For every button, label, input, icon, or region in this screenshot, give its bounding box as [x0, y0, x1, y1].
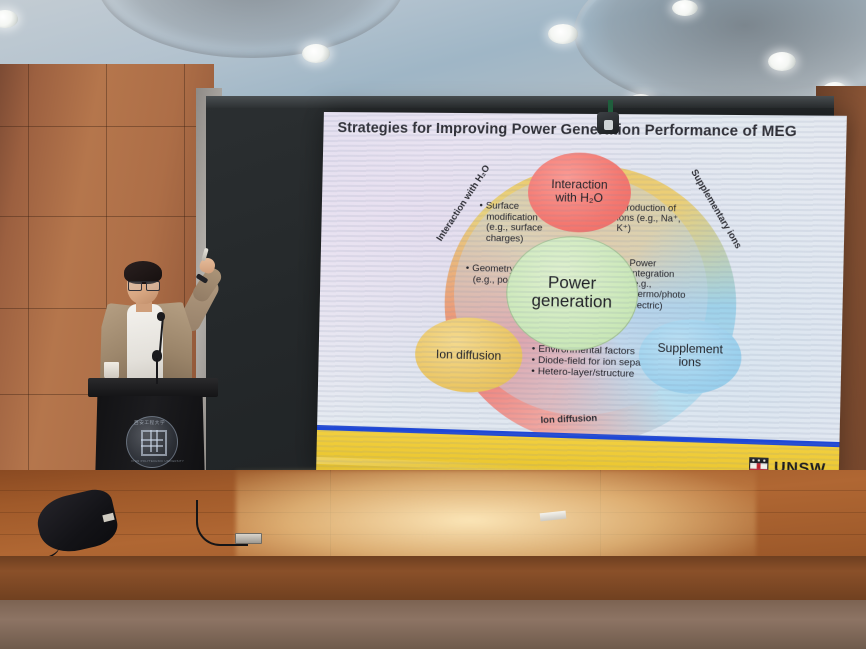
downlight-icon	[548, 24, 578, 44]
university-emblem: 西安工程大学 XI'AN POLYTECHNIC UNIVERSITY	[126, 416, 178, 468]
downlight-icon	[768, 52, 796, 71]
ceiling-coffer-ring	[96, 0, 406, 58]
podium-mic-stand	[156, 358, 158, 384]
projection-screen: Strategies for Improving Power Generatio…	[316, 112, 847, 491]
emblem-chinese-text: 西安工程大学	[134, 420, 165, 426]
stage-front-edge	[0, 556, 866, 606]
downlight-icon	[302, 44, 330, 63]
emblem-inner-shape	[141, 430, 167, 456]
venn-diagram: Interaction with H₂O Supplementary ions …	[418, 155, 768, 438]
floor-cable	[196, 500, 248, 546]
downlight-icon	[672, 0, 698, 16]
podium-nameplate: 西安工程大学	[88, 378, 218, 397]
water-cup	[104, 362, 119, 379]
camera-lens-icon	[604, 120, 613, 130]
arc-label-ion-diffusion: Ion diffusion	[540, 413, 597, 425]
glasses-bridge-icon	[128, 281, 159, 290]
downlight-icon	[0, 10, 18, 28]
hall-floor	[0, 600, 866, 649]
emblem-english-text: XI'AN POLYTECHNIC UNIVERSITY	[131, 460, 184, 463]
backdrop-top-frame	[206, 96, 834, 108]
lecture-hall-photo: Strategies for Improving Power Generatio…	[0, 0, 866, 649]
